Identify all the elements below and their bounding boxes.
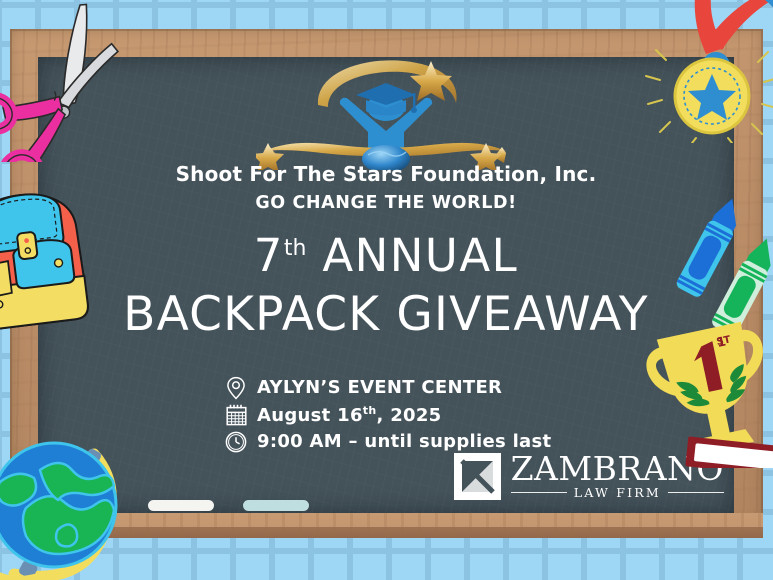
flyer-canvas: Shoot For The Stars Foundation, Inc. GO …	[0, 0, 773, 580]
event-date-main: August 16	[257, 405, 363, 426]
trophy-icon: 1 ST	[638, 318, 773, 468]
medal-icon	[640, 0, 773, 143]
headline-line-2: BACKPACK GIVEAWAY	[38, 291, 734, 338]
flyer-content: Shoot For The Stars Foundation, Inc. GO …	[38, 57, 734, 513]
detail-row-venue: AYLYN’S EVENT CENTER	[223, 375, 551, 400]
event-details: AYLYN’S EVENT CENTER	[223, 375, 551, 456]
sponsor-subtitle-row: LAW FIRM	[511, 485, 724, 500]
event-date-ordinal: th	[363, 404, 377, 417]
chalk-stick-blue	[243, 500, 309, 511]
headline-ordinal-suffix: th	[284, 236, 307, 261]
sponsor-rule-right	[668, 492, 724, 493]
sponsor-subtitle: LAW FIRM	[567, 485, 668, 500]
venue-name: AYLYN’S EVENT CENTER	[257, 377, 502, 398]
event-time: 9:00 AM – until supplies last	[257, 431, 551, 452]
clock-icon	[223, 430, 249, 454]
z-square-icon	[454, 453, 501, 500]
headline-line-1: 7th ANNUAL	[38, 233, 734, 278]
detail-row-date: August 16th, 2025	[223, 402, 551, 427]
headline-ordinal-number: 7	[254, 229, 284, 282]
sponsor-rule-left	[511, 492, 567, 493]
event-date-year: , 2025	[376, 405, 441, 426]
chalk-stick-white	[148, 500, 214, 511]
scissors-icon	[0, 0, 134, 162]
backpack-icon	[0, 182, 108, 337]
detail-row-time: 9:00 AM – until supplies last	[223, 429, 551, 454]
event-date: August 16th, 2025	[257, 404, 442, 426]
organization-name: Shoot For The Stars Foundation, Inc.	[38, 162, 734, 186]
globe-icon	[0, 420, 142, 580]
headline: 7th ANNUAL BACKPACK GIVEAWAY	[38, 233, 734, 338]
calendar-icon	[223, 403, 249, 427]
headline-annual-word: ANNUAL	[322, 229, 518, 282]
location-pin-icon	[223, 376, 249, 400]
crayons-icon	[676, 190, 773, 335]
graduate-star-logo-icon	[256, 55, 516, 170]
organization-tagline: GO CHANGE THE WORLD!	[38, 193, 734, 213]
